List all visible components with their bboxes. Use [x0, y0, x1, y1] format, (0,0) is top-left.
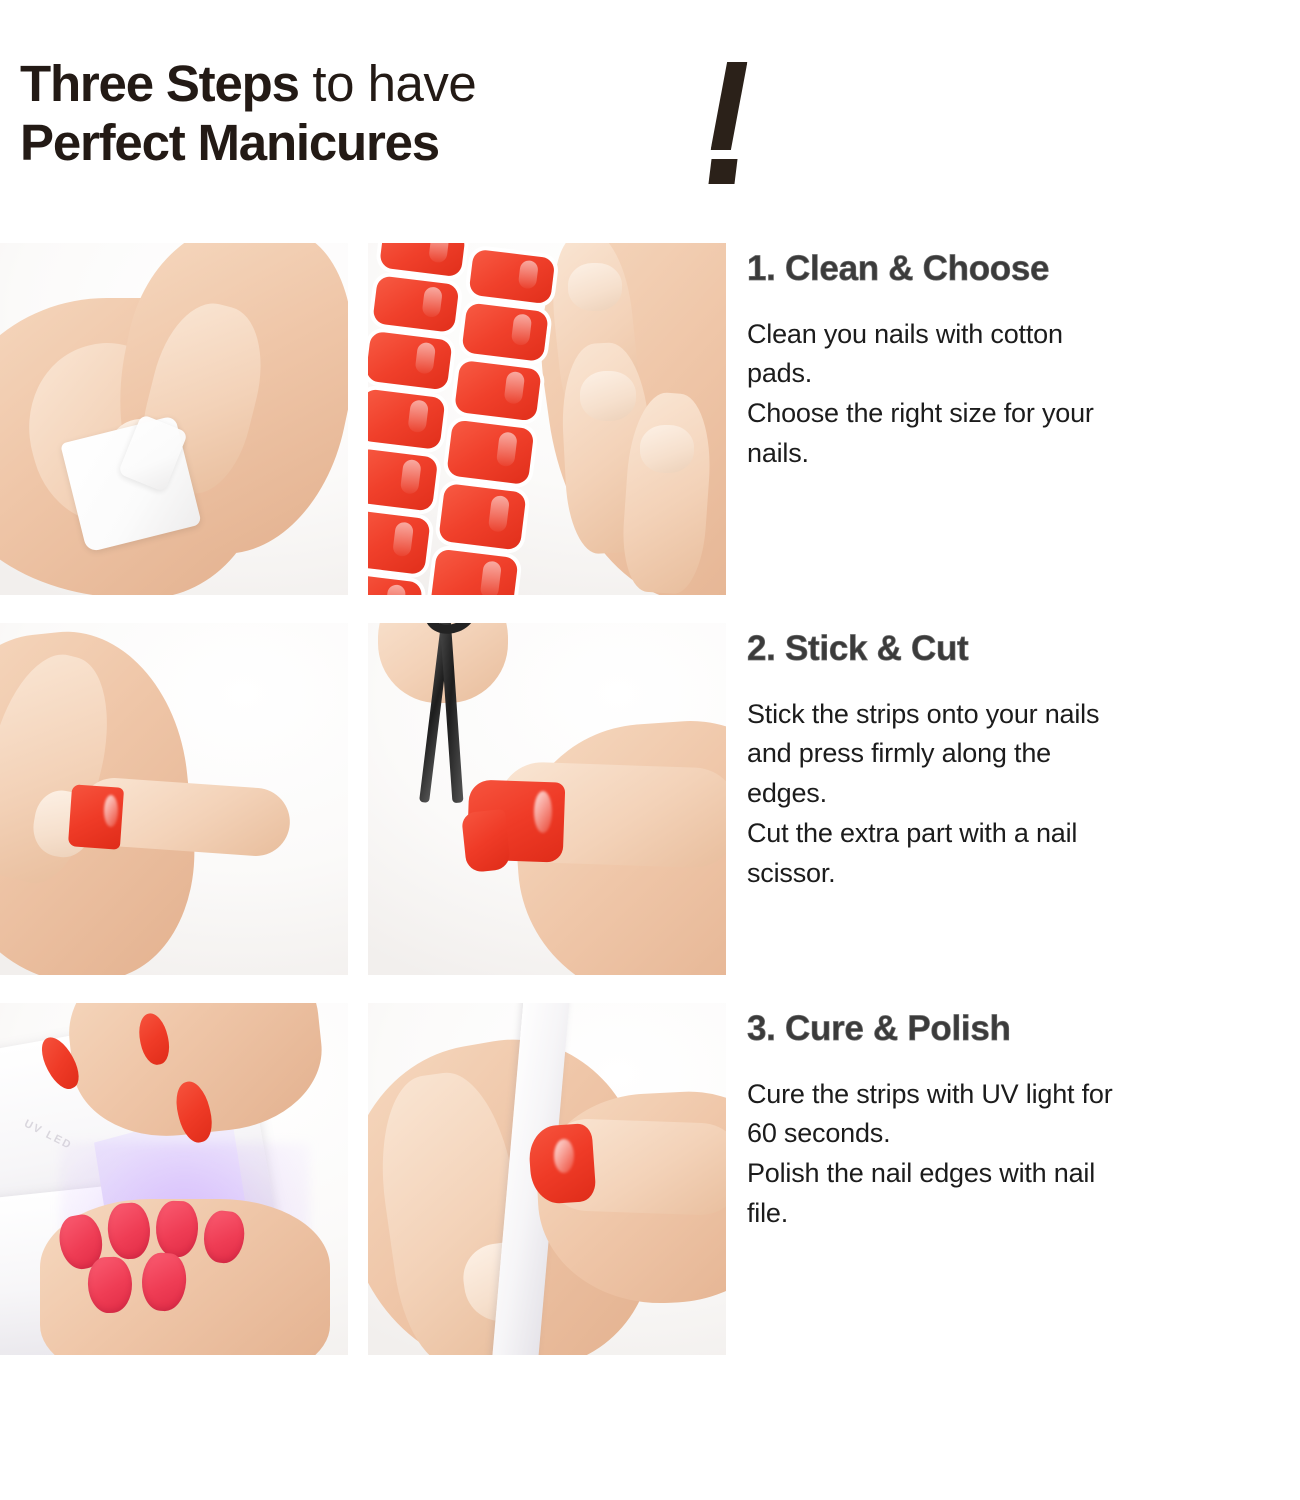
exclamation-mark-icon — [700, 62, 770, 187]
title-strong-2: Perfect Manicures — [20, 114, 439, 171]
infographic-page: Three Steps to have Perfect Manicures — [0, 0, 1300, 1500]
nail-strip — [430, 549, 519, 595]
step-2: 2. Stick & Cut Stick the strips onto you… — [747, 630, 1300, 894]
step-3-line: 60 seconds. — [747, 1114, 1300, 1154]
photo-row-step-2 — [0, 623, 726, 975]
step-1: 1. Clean & Choose Clean you nails with c… — [747, 250, 1300, 474]
step-3-line: Polish the nail edges with nail — [747, 1154, 1300, 1194]
title-light-1: to have — [299, 55, 476, 112]
photo-row-step-3: UV LED — [0, 1003, 726, 1355]
nail-strip — [468, 249, 555, 305]
step-2-line: and press firmly along the — [747, 734, 1300, 774]
step-1-line: nails. — [747, 434, 1300, 474]
page-title: Three Steps to have Perfect Manicures — [20, 58, 780, 203]
nail-strip — [454, 360, 542, 422]
fingernail-3 — [640, 425, 694, 473]
exclamation-dot — [708, 159, 737, 184]
photo-grid: UV LED — [0, 243, 726, 1355]
step-1-line: Choose the right size for your — [747, 394, 1300, 434]
step-2-line: scissor. — [747, 854, 1300, 894]
photo-row-step-1 — [0, 243, 726, 595]
nail-strip — [379, 243, 466, 277]
step-3: 3. Cure & Polish Cure the strips with UV… — [747, 1010, 1300, 1234]
nail-strip — [368, 510, 431, 576]
photo-cutting-excess-with-scissor — [368, 623, 726, 975]
strip-gloss-highlight — [104, 795, 118, 827]
step-1-line: pads. — [747, 354, 1300, 394]
step-2-line: Stick the strips onto your nails — [747, 695, 1300, 735]
photo-hands-with-cotton-pad — [0, 243, 348, 595]
step-1-body: Clean you nails with cotton pads. Choose… — [747, 315, 1300, 475]
step-1-line: Clean you nails with cotton — [747, 315, 1300, 355]
excess-strip-tab — [461, 809, 511, 873]
step-2-body: Stick the strips onto your nails and pre… — [747, 695, 1300, 895]
step-2-heading: 2. Stick & Cut — [747, 630, 1300, 669]
nail-strip — [368, 448, 438, 512]
step-3-heading: 3. Cure & Polish — [747, 1010, 1300, 1049]
photo-nail-strip-sheet — [368, 243, 726, 595]
nail-strip — [438, 483, 526, 551]
photo-curing-under-uv-lamp: UV LED — [0, 1003, 348, 1355]
nail-strip — [372, 275, 459, 333]
step-2-line: Cut the extra part with a nail — [747, 814, 1300, 854]
nail-strip — [368, 388, 446, 450]
nail-gloss-highlight — [534, 791, 552, 833]
title-line-2: Perfect Manicures — [20, 117, 780, 168]
step-3-body: Cure the strips with UV light for 60 sec… — [747, 1075, 1300, 1235]
step-3-line: file. — [747, 1194, 1300, 1234]
step-2-line: edges. — [747, 774, 1300, 814]
nail-strip — [461, 302, 548, 362]
nail-strip — [368, 331, 453, 391]
nail-gloss-highlight — [554, 1139, 574, 1173]
step-3-line: Cure the strips with UV light for — [747, 1075, 1300, 1115]
fingernail-2 — [580, 371, 636, 421]
step-1-heading: 1. Clean & Choose — [747, 250, 1300, 289]
exclamation-bar — [711, 62, 748, 150]
photo-applying-strip-to-nail — [0, 623, 348, 975]
nail-strip — [446, 419, 534, 485]
nail-strip — [368, 573, 423, 595]
title-line-1: Three Steps to have — [20, 58, 780, 109]
photo-filing-nail-edge — [368, 1003, 726, 1355]
title-strong-1: Three Steps — [20, 55, 299, 112]
